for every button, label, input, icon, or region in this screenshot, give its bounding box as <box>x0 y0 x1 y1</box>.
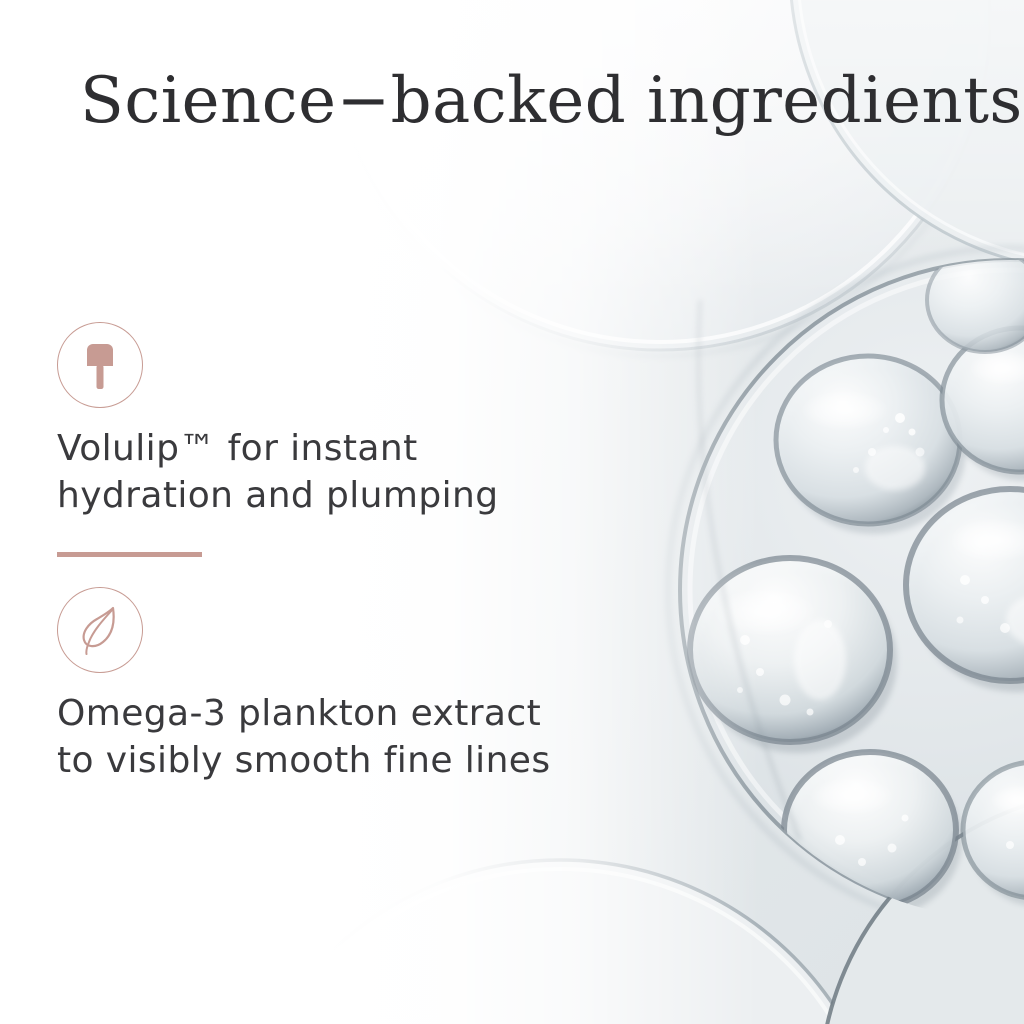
benefit-item-omega3: Omega-3 plankton extract to visibly smoo… <box>57 587 677 784</box>
marketing-graphic: Science−backed ingredients Volulip™ for … <box>0 0 1024 1024</box>
benefit-text-volulip: Volulip™ for instant hydration and plump… <box>57 425 677 519</box>
page-title: Science−backed ingredients <box>80 68 980 135</box>
dropper-icon <box>76 338 124 392</box>
benefit-text-omega3: Omega-3 plankton extract to visibly smoo… <box>57 690 677 784</box>
dropper-icon-badge <box>57 322 143 408</box>
benefit-item-volulip: Volulip™ for instant hydration and plump… <box>57 322 677 519</box>
leaf-icon-badge <box>57 587 143 673</box>
leaf-icon <box>75 604 125 656</box>
spacer <box>57 557 677 587</box>
benefit-list: Volulip™ for instant hydration and plump… <box>57 322 677 784</box>
